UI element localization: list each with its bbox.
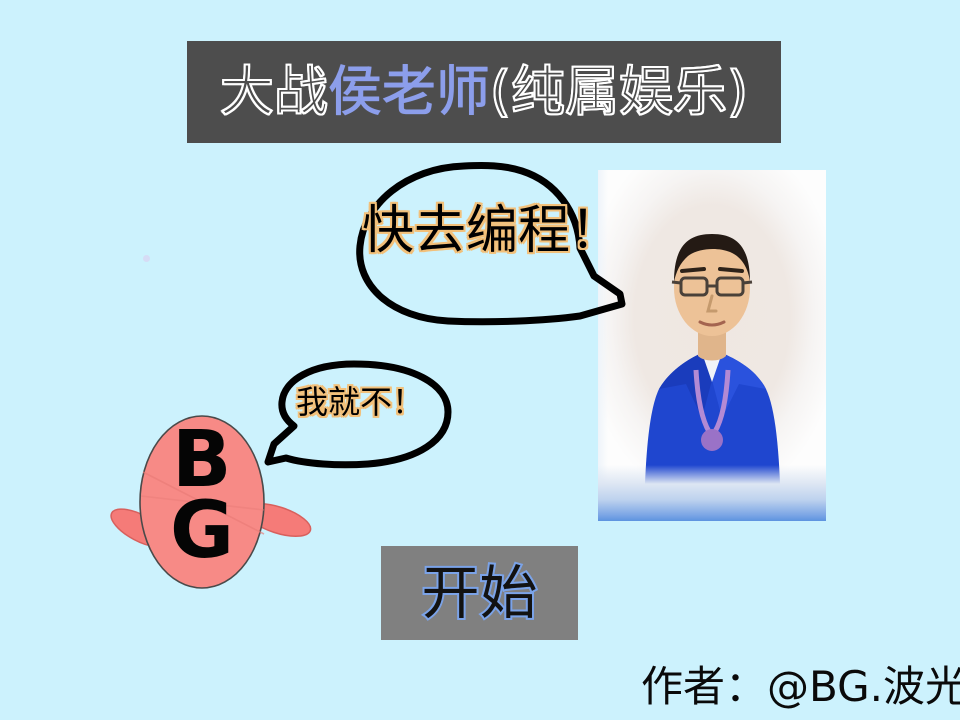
title-prefix: 大战 (220, 65, 328, 119)
start-button-label: 开始 (421, 564, 537, 622)
author-credit: 作者：@BG.波光 (641, 666, 960, 708)
decorative-dot (143, 255, 150, 262)
title-bar: 大战侯老师(纯属娱乐) (187, 41, 781, 143)
bg-character[interactable]: B G (118, 398, 328, 628)
start-button[interactable]: 开始 (381, 546, 578, 640)
slide-canvas: 大战侯老师(纯属娱乐) (0, 0, 960, 720)
title-suffix: (纯属娱乐) (490, 65, 748, 119)
photo-bottom-band (598, 465, 826, 521)
title-highlight: 侯老师 (328, 65, 490, 119)
bg-letter-bottom: G (170, 492, 234, 570)
speech-bubble-big-text: 快去编程！ (362, 205, 622, 257)
